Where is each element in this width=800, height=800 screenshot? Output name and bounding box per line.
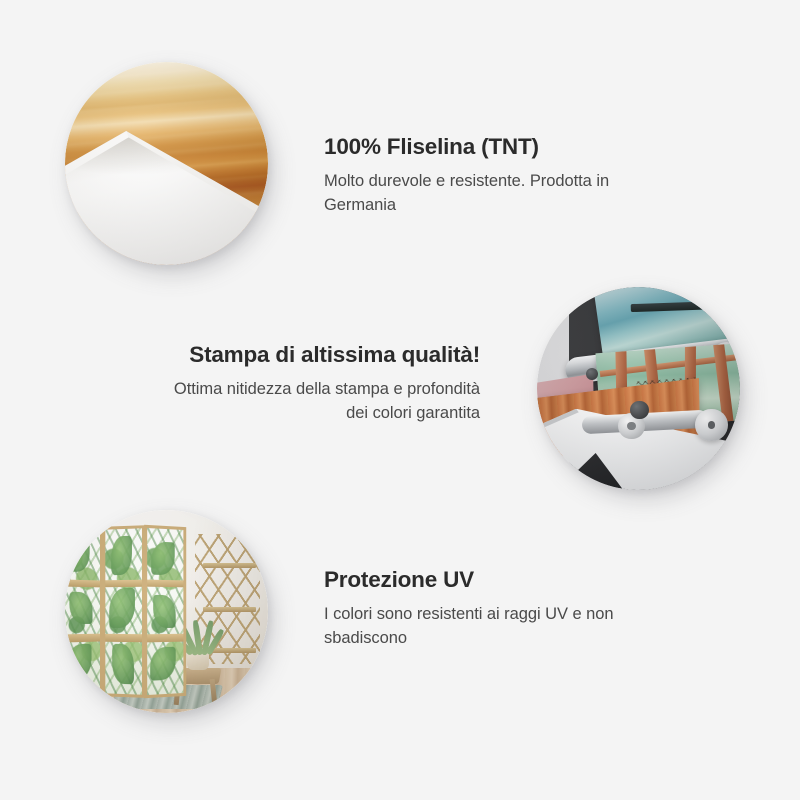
feature-protezione-uv-body: I colori sono resistenti ai raggi UV e n… bbox=[324, 603, 664, 651]
photo-vignette bbox=[65, 62, 268, 265]
large-format-printer-photo bbox=[537, 287, 740, 490]
feature-fliselina-text: 100% Fliselina (TNT) Molto durevole e re… bbox=[324, 134, 664, 218]
feature-stampa-qualita-body: Ottima nitidezza della stampa e profondi… bbox=[150, 378, 480, 426]
tropical-room-divider-photo bbox=[65, 510, 268, 713]
feature-stampa-qualita-text: Stampa di altissima qualità! Ottima niti… bbox=[150, 342, 480, 426]
feature-protezione-uv-text: Protezione UV I colori sono resistenti a… bbox=[324, 567, 664, 651]
feature-protezione-uv-heading: Protezione UV bbox=[324, 567, 664, 593]
feature-stampa-qualita-heading: Stampa di altissima qualità! bbox=[150, 342, 480, 368]
photo-vignette bbox=[537, 287, 740, 490]
feature-fliselina-body: Molto durevole e resistente. Prodotta in… bbox=[324, 170, 664, 218]
photo-vignette bbox=[65, 510, 268, 713]
wallpaper-peel-photo bbox=[65, 62, 268, 265]
feature-fliselina-heading: 100% Fliselina (TNT) bbox=[324, 134, 664, 160]
infographic-stage: 100% Fliselina (TNT) Molto durevole e re… bbox=[0, 0, 800, 800]
